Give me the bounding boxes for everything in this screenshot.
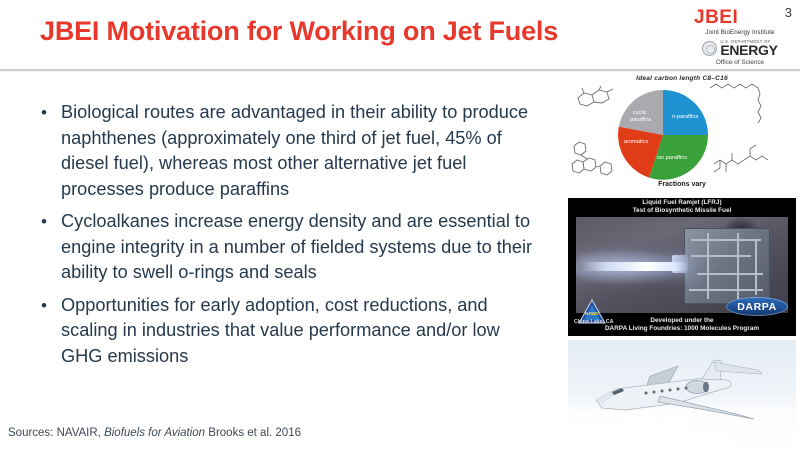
svg-text:NAWC: NAWC [585,311,600,316]
doe-logo: U.S. DEPARTMENT OF ENERGY [686,40,794,57]
slide-number: 3 [785,5,792,20]
list-item: • Biological routes are advantaged in th… [36,100,541,202]
ramjet-test-figure[interactable]: Liquid Fuel Ramjet (LFRJ) Test of Biosyn… [568,198,796,336]
bullet-text: Cycloalkanes increase energy density and… [61,209,541,286]
jbei-logo: JBEI 3 [686,6,794,30]
sources-suffix: Brooks et al. 2016 [205,427,301,439]
logo-block: JBEI 3 Joint BioEnergy Institute U.S. DE… [686,6,794,66]
sources-prefix: Sources: NAVAIR, [8,427,104,439]
pie-label-aromatics: aromatics [624,139,648,145]
pipe [691,239,761,241]
bullet-marker: • [36,100,61,202]
pie-label-n-paraffins: n-paraffins [672,114,699,120]
page-title: JBEI Motivation for Working on Jet Fuels [40,16,558,47]
pie-chart: n-paraffins iso paraffins aromatics cycl… [615,87,711,183]
pipe [755,241,757,295]
jbei-wordmark: JBEI [694,7,738,29]
pie-caption-top: Ideal carbon length C8–C16 [566,75,798,82]
bullet-list: • Biological routes are advantaged in th… [36,100,541,376]
bullet-marker: • [36,293,61,370]
doe-office-label: Office of Science [686,59,794,66]
jbei-subtitle: Joint BioEnergy Institute [686,29,794,36]
pie-label-cyclic-paraffins-line2: paraffins [630,117,652,123]
list-item: • Opportunities for early adoption, cost… [36,293,541,370]
pipe [707,233,709,299]
pie-label-cyclic-paraffins-line1: cyclic [633,110,647,116]
iso-paraffin-branched-molecule-icon [710,134,780,182]
bullet-marker: • [36,209,61,286]
list-item: • Cycloalkanes increase energy density a… [36,209,541,286]
ramjet-footer-line2: DARPA Living Foundries: 1000 Molecules P… [568,325,796,334]
pipe [689,289,763,291]
sources-footer: Sources: NAVAIR, Biofuels for Aviation B… [8,427,301,439]
ramjet-caption: Liquid Fuel Ramjet (LFRJ) Test of Biosyn… [568,199,796,216]
pie-slice-n-paraffins [663,90,708,135]
cyclic-paraffin-molecule-icon [570,84,618,114]
doe-seal-icon [702,41,717,56]
sources-title-italic: Biofuels for Aviation [104,427,205,439]
bullet-text: Biological routes are advantaged in thei… [61,100,541,202]
pie-label-iso-paraffins: iso paraffins [657,155,687,161]
pie-caption-bottom: Fractions vary [566,181,798,188]
pipe [691,255,751,257]
ramjet-caption-line2: Test of Biosynthetic Missile Fuel [568,207,796,215]
ramjet-caption-line1: Liquid Fuel Ramjet (LFRJ) [568,199,796,207]
darpa-logo: DARPA [726,297,788,316]
pipe [737,233,739,299]
business-jet-figure[interactable] [568,340,796,445]
pie-chart-svg: n-paraffins iso paraffins aromatics cycl… [615,87,711,183]
exhaust-plume [578,262,688,271]
doe-text: U.S. DEPARTMENT OF ENERGY [720,40,777,57]
jet-fuel-composition-pie-figure: Ideal carbon length C8–C16 [566,72,798,190]
bullet-text: Opportunities for early adoption, cost r… [61,293,541,370]
doe-wordmark: ENERGY [720,43,777,57]
engine-assembly [684,228,770,304]
n-paraffin-chain-molecule-icon [708,82,780,126]
ramjet-location-label: China Lake, CA [574,319,614,325]
business-jet-photo [586,358,776,420]
